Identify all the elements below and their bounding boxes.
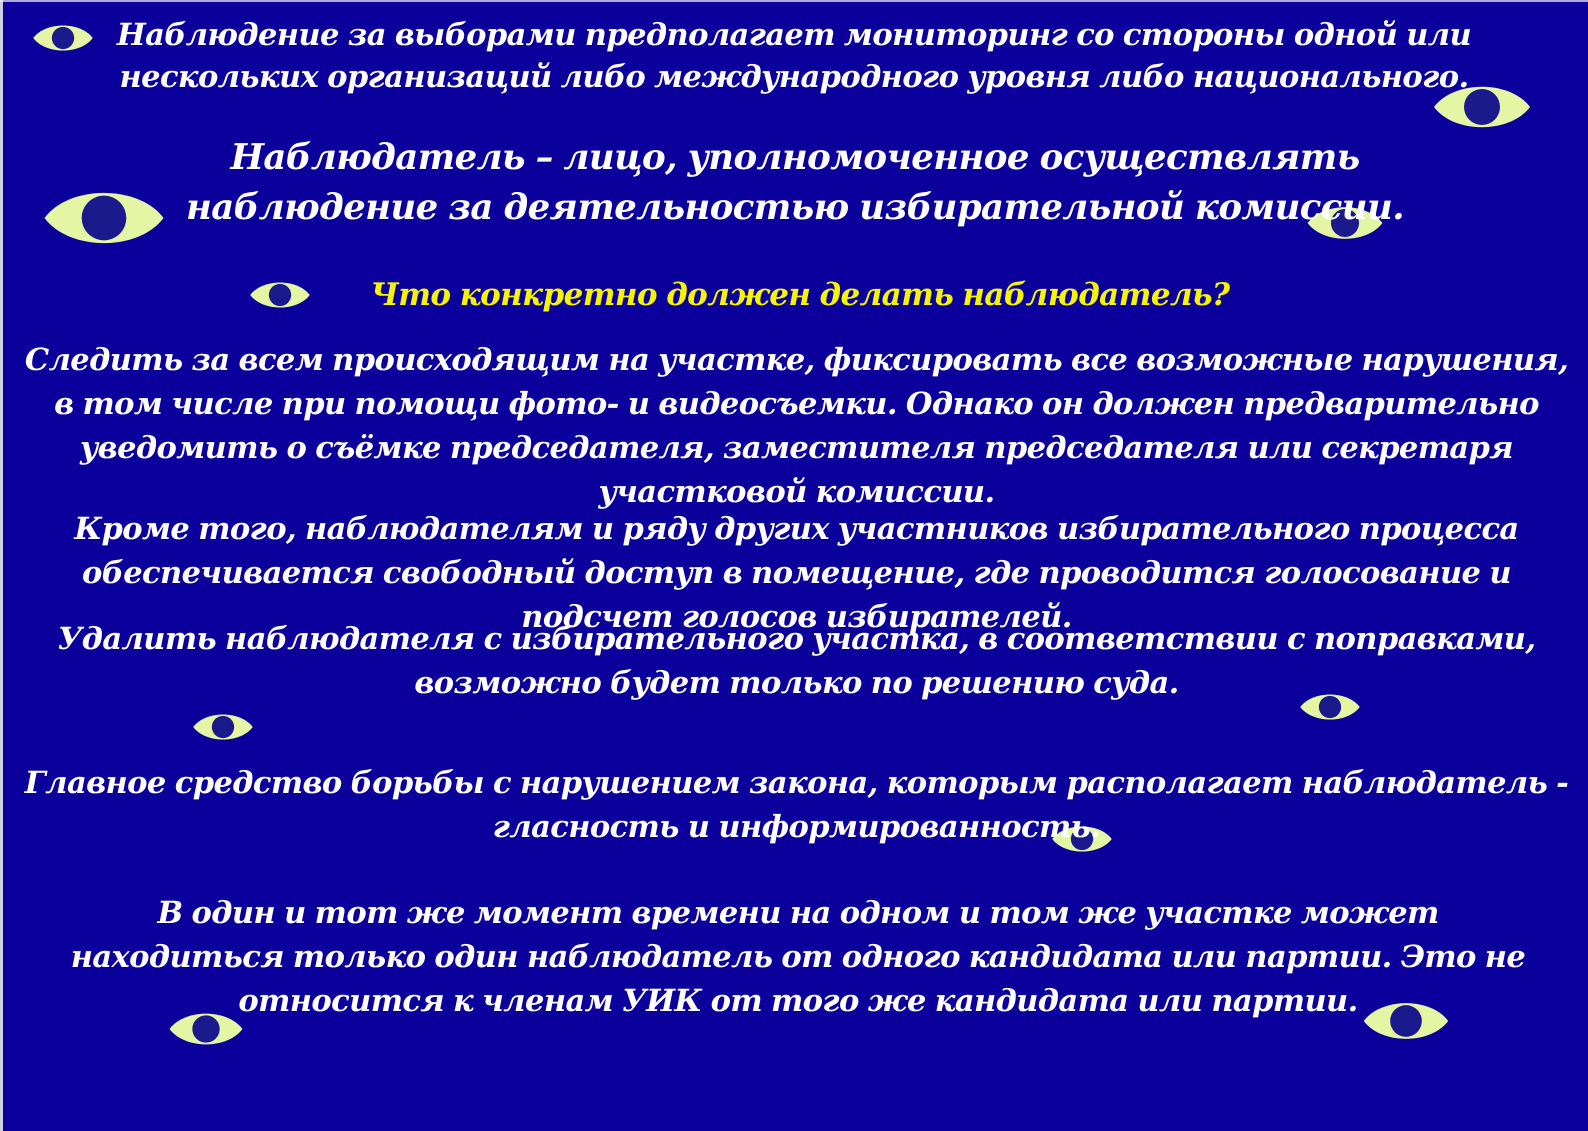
intro-paragraph: Наблюдение за выборами предполагает мони…	[84, 14, 1504, 98]
body-paragraph-1: Следить за всем происходящим на участке,…	[24, 339, 1569, 515]
slide-canvas: Наблюдение за выборами предполагает мони…	[0, 0, 1588, 1131]
body-paragraph-5: В один и тот же момент времени на одном …	[48, 892, 1548, 1024]
question-heading: Что конкретно должен делать наблюдатель?	[300, 275, 1300, 315]
text-layer: Наблюдение за выборами предполагает мони…	[0, 0, 1588, 1131]
definition-paragraph: Наблюдатель – лицо, уполномоченное осуще…	[110, 133, 1480, 232]
body-paragraph-3: Удалить наблюдателя с избирательного уча…	[24, 618, 1569, 706]
body-paragraph-4: Главное средство борьбы с нарушением зак…	[24, 762, 1569, 850]
